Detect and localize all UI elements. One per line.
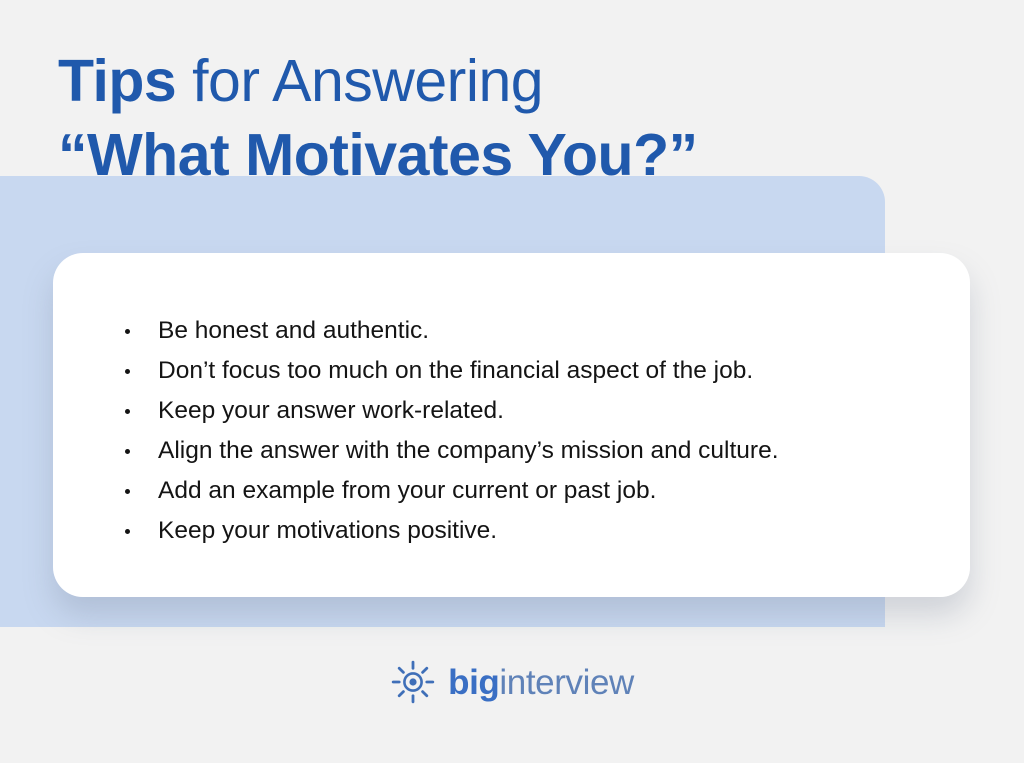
list-item-label: Keep your motivations positive.: [158, 517, 497, 544]
list-item: Add an example from your current or past…: [125, 471, 779, 511]
sun-icon: [390, 659, 436, 705]
infographic-root: Tips for Answering “What Motivates You?”…: [0, 0, 1024, 763]
logo-text-big: big: [448, 663, 499, 702]
list-item: Don’t focus too much on the financial as…: [125, 351, 779, 391]
list-item-label: Keep your answer work-related.: [158, 397, 504, 424]
bullet-icon: [125, 329, 130, 334]
tips-list: Be honest and authentic. Don’t focus too…: [125, 311, 779, 551]
page-title-line-1-rest: for Answering: [176, 48, 543, 114]
bullet-icon: [125, 449, 130, 454]
list-item: Align the answer with the company’s miss…: [125, 431, 779, 471]
list-item: Be honest and authentic.: [125, 311, 779, 351]
list-item-label: Don’t focus too much on the financial as…: [158, 357, 753, 384]
page-title-line-2: “What Motivates You?”: [58, 126, 958, 185]
brand-logo: biginterview: [0, 652, 1024, 712]
list-item: Keep your answer work-related.: [125, 391, 779, 431]
page-title-line-1: Tips for Answering: [58, 52, 958, 111]
list-item-label: Align the answer with the company’s miss…: [158, 437, 779, 464]
logo-wordmark: biginterview: [448, 665, 634, 700]
list-item: Keep your motivations positive.: [125, 511, 779, 551]
list-item-label: Be honest and authentic.: [158, 317, 429, 344]
bullet-icon: [125, 369, 130, 374]
list-item-label: Add an example from your current or past…: [158, 477, 656, 504]
page-title: Tips for Answering “What Motivates You?”: [58, 52, 958, 185]
page-title-accent: Tips: [58, 48, 176, 114]
bullet-icon: [125, 409, 130, 414]
content-card: Be honest and authentic. Don’t focus too…: [53, 253, 970, 597]
bullet-icon: [125, 489, 130, 494]
bullet-icon: [125, 529, 130, 534]
logo-text-interview: interview: [499, 663, 634, 702]
